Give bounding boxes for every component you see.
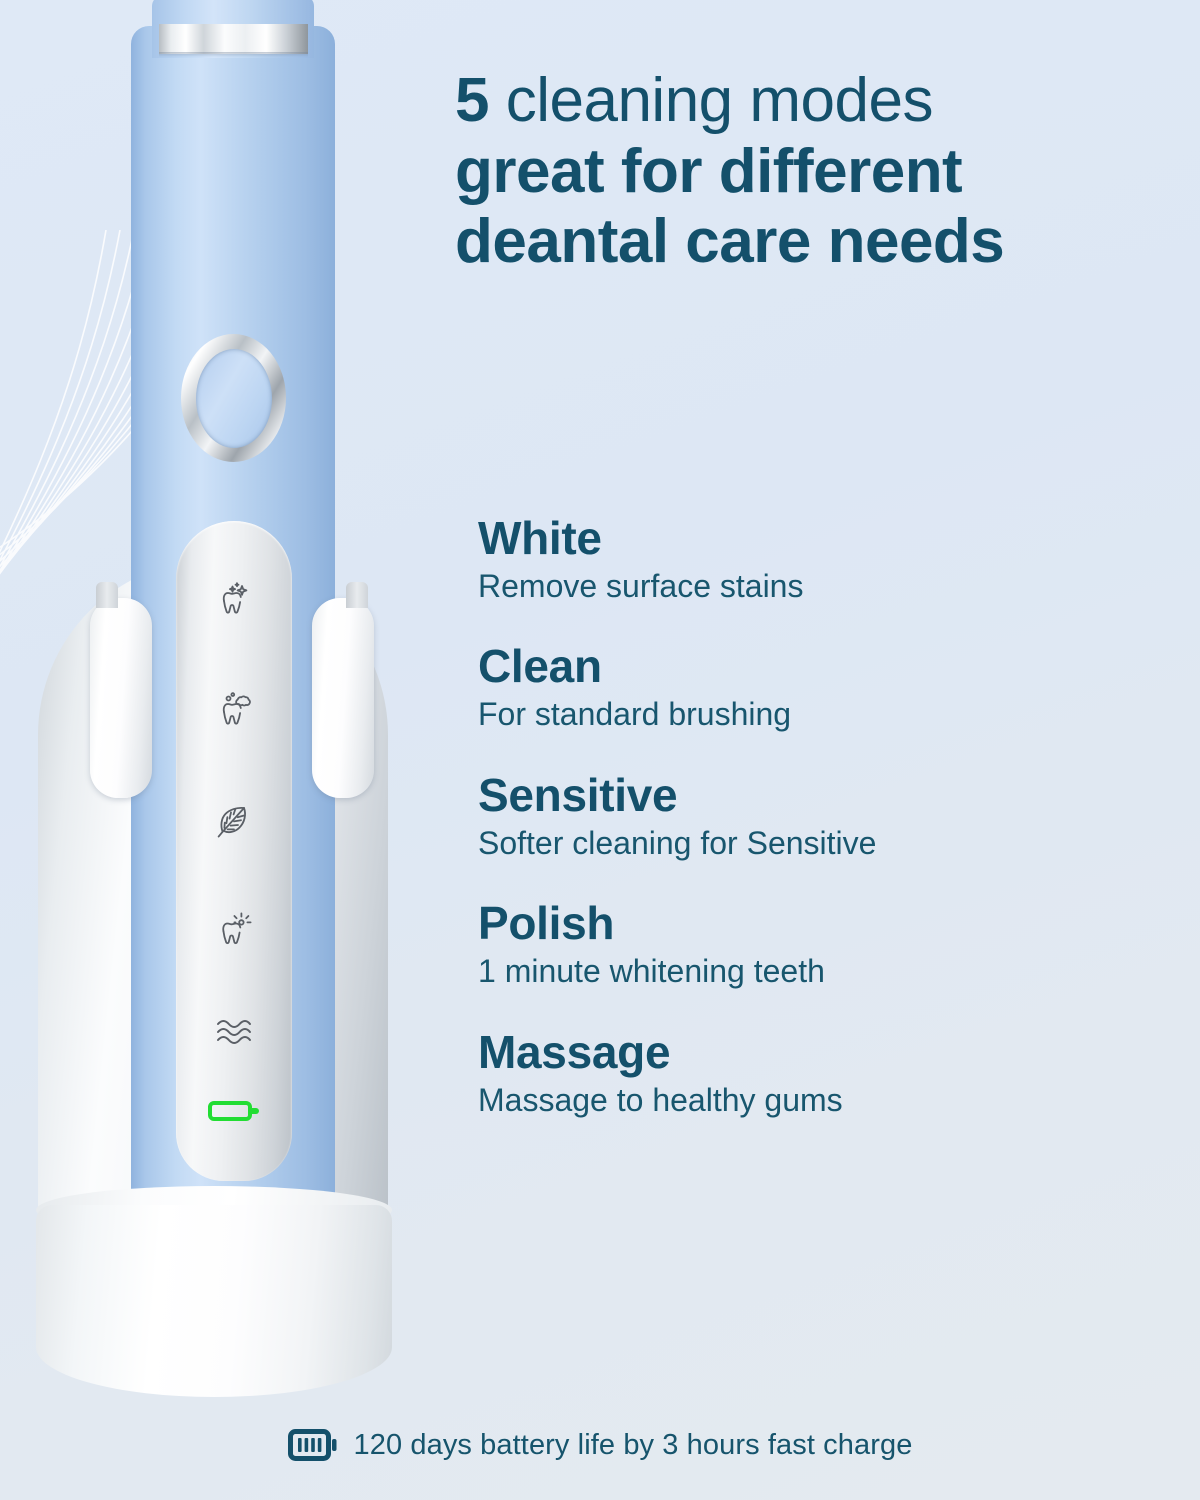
tooth-foam-icon[interactable] <box>176 689 292 735</box>
tooth-sparkle-icon[interactable] <box>176 579 292 625</box>
list-item: Polish 1 minute whitening teeth <box>478 900 1118 992</box>
mode-description: For standard brushing <box>478 691 1118 736</box>
battery-icon <box>288 1425 340 1465</box>
list-item: Massage Massage to healthy gums <box>478 1029 1118 1121</box>
list-item: Clean For standard brushing <box>478 643 1118 735</box>
footer-battery-claim: 120 days battery life by 3 hours fast ch… <box>0 1425 1200 1465</box>
mode-description: Remove surface stains <box>478 563 1118 608</box>
ferrule-shadow <box>159 52 308 57</box>
mode-description: 1 minute whitening teeth <box>478 948 1118 993</box>
power-button-inner <box>196 349 272 448</box>
list-item: Sensitive Softer cleaning for Sensitive <box>478 772 1118 864</box>
mode-name: White <box>478 515 1118 563</box>
headline-line-3: deantal care needs <box>455 207 1175 278</box>
mode-name: Massage <box>478 1029 1118 1077</box>
headline-line-1: 5 cleaning modes <box>455 66 1175 137</box>
brush-head-ferrule <box>159 24 308 54</box>
charging-base <box>36 1205 392 1397</box>
brush-holder-clip-left <box>90 598 152 798</box>
mode-icon-panel[interactable] <box>176 521 292 1181</box>
mode-name: Clean <box>478 643 1118 691</box>
page-title: 5 cleaning modes great for different dea… <box>455 0 1175 278</box>
mode-description: Massage to healthy gums <box>478 1077 1118 1122</box>
clip-tab-right <box>346 582 368 608</box>
cleaning-modes-list: White Remove surface stains Clean For st… <box>478 515 1118 1121</box>
headline-line-1-rest: cleaning modes <box>489 66 933 135</box>
headline-number: 5 <box>455 66 489 135</box>
clip-tab-left <box>96 582 118 608</box>
waves-icon[interactable] <box>176 1015 292 1049</box>
footer-text: 120 days battery life by 3 hours fast ch… <box>354 1429 913 1462</box>
feather-icon[interactable] <box>176 799 292 845</box>
power-button[interactable] <box>181 334 286 462</box>
content-column: 5 cleaning modes great for different dea… <box>455 0 1175 278</box>
mode-description: Softer cleaning for Sensitive <box>478 820 1118 865</box>
mode-name: Sensitive <box>478 772 1118 820</box>
battery-led-indicator <box>176 1099 292 1123</box>
mode-name: Polish <box>478 900 1118 948</box>
tooth-shine-icon[interactable] <box>176 909 292 955</box>
toothbrush-product-illustration <box>0 0 460 1420</box>
infographic-page: 5 cleaning modes great for different dea… <box>0 0 1200 1500</box>
brush-holder-clip-right <box>312 598 374 798</box>
list-item: White Remove surface stains <box>478 515 1118 607</box>
headline-line-2: great for different <box>455 137 1175 208</box>
